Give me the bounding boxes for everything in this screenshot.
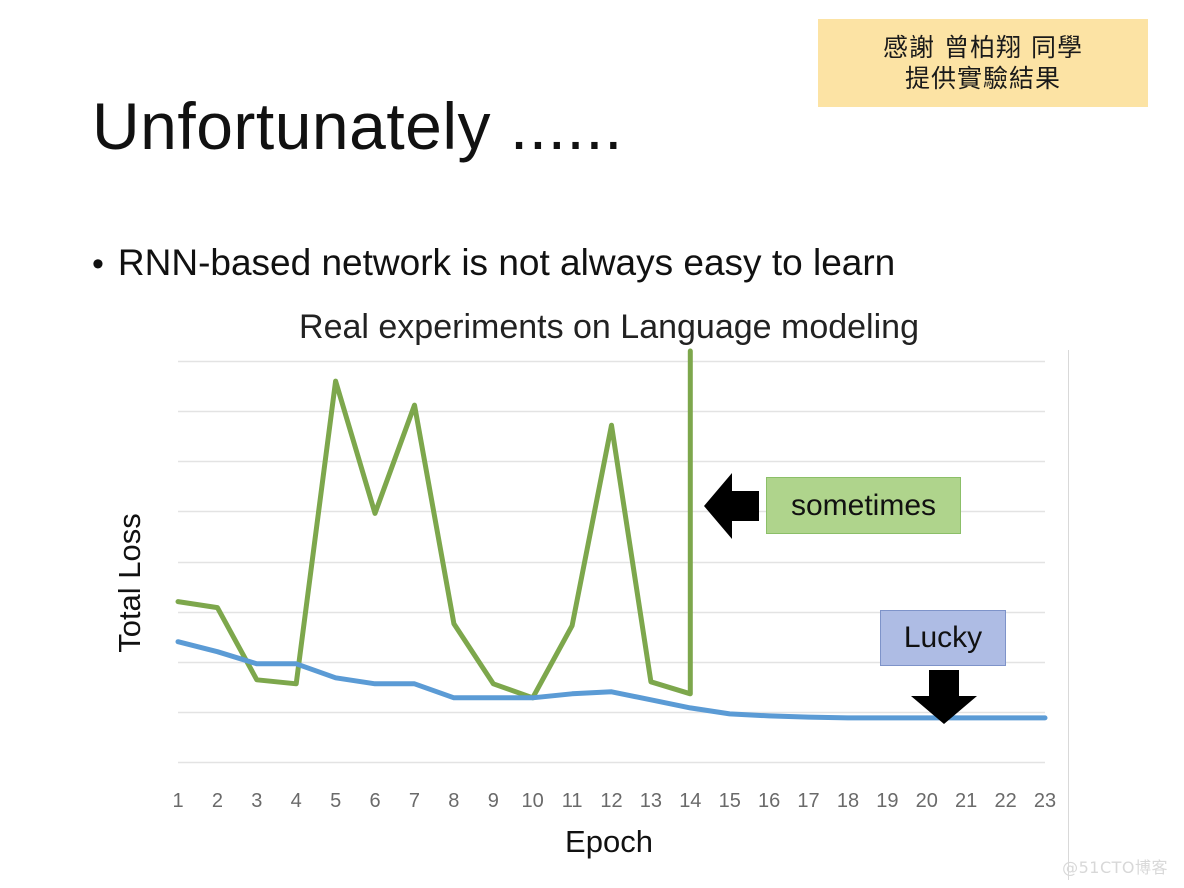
x-axis-label: Epoch — [174, 824, 1044, 860]
arrow-down-icon — [908, 668, 980, 726]
chart: Real experiments on Language modeling To… — [0, 0, 1184, 888]
x-tick-label: 22 — [989, 790, 1023, 813]
arrow-left-icon — [702, 470, 760, 542]
x-tick-label: 21 — [949, 790, 983, 813]
x-tick-label: 12 — [595, 790, 629, 813]
x-tick-label: 9 — [476, 790, 510, 813]
x-tick-label: 14 — [673, 790, 707, 813]
x-tick-label: 15 — [713, 790, 747, 813]
content-divider — [1068, 350, 1069, 880]
x-tick-label: 5 — [319, 790, 353, 813]
x-tick-label: 16 — [752, 790, 786, 813]
callout-lucky-label: Lucky — [904, 621, 982, 655]
series-line-sometimes — [178, 351, 690, 698]
x-tick-label: 19 — [870, 790, 904, 813]
slide-canvas: 感謝 曾柏翔 同學 提供實驗結果 Unfortunately ...... • … — [0, 0, 1184, 888]
x-tick-label: 11 — [555, 790, 589, 813]
x-tick-label: 2 — [200, 790, 234, 813]
callout-sometimes-label: sometimes — [791, 489, 936, 523]
x-axis-ticks: 1234567891011121314151617181920212223 — [178, 790, 1045, 816]
x-tick-label: 8 — [437, 790, 471, 813]
watermark: @51CTO博客 — [1062, 854, 1168, 878]
callout-sometimes[interactable]: sometimes — [766, 477, 961, 534]
plot-svg — [0, 0, 1184, 888]
x-tick-label: 10 — [516, 790, 550, 813]
x-tick-label: 7 — [397, 790, 431, 813]
x-tick-label: 20 — [910, 790, 944, 813]
x-tick-label: 17 — [792, 790, 826, 813]
x-tick-label: 18 — [831, 790, 865, 813]
x-tick-label: 13 — [634, 790, 668, 813]
x-tick-label: 3 — [240, 790, 274, 813]
x-tick-label: 6 — [358, 790, 392, 813]
x-tick-label: 1 — [161, 790, 195, 813]
x-tick-label: 4 — [279, 790, 313, 813]
x-tick-label: 23 — [1028, 790, 1062, 813]
callout-lucky[interactable]: Lucky — [880, 610, 1006, 666]
